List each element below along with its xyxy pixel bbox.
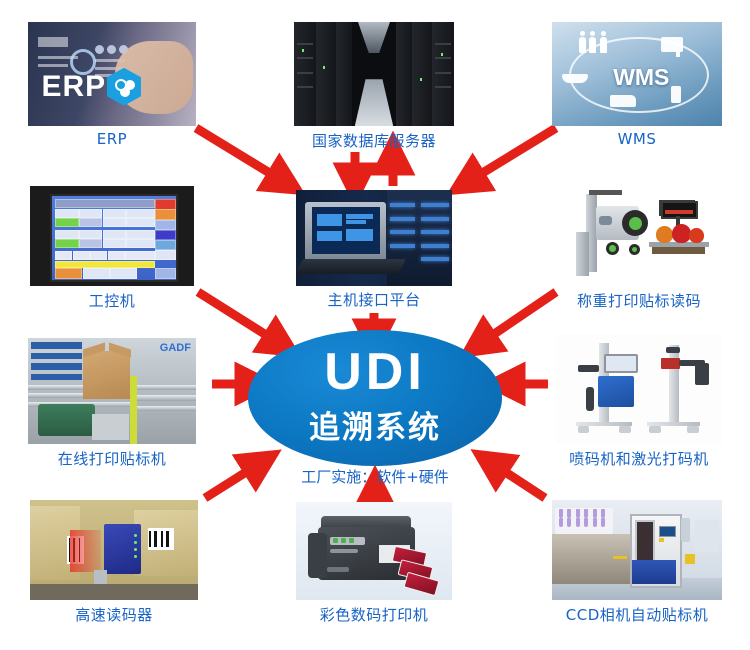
udi-implementation-caption: 工厂实施：软件+硬件 — [248, 466, 502, 487]
node-label-colorprint: 彩色数码打印机 — [256, 604, 492, 625]
node-label-db-server: 国家数据库服务器 — [254, 130, 494, 151]
erp-logo-text: ERP — [41, 70, 106, 104]
ccd-thumbnail — [552, 500, 722, 600]
udi-title: UDI — [248, 342, 502, 402]
node-inkjet[interactable]: 喷码机和激光打码机 — [556, 334, 722, 444]
node-wms[interactable]: WMS WMS — [552, 22, 722, 126]
node-label-ccd: CCD相机自动贴标机 — [512, 604, 750, 625]
udi-system-diagram: ERP ERP 国家数据库服务器 — [0, 0, 750, 650]
node-label-inkjet: 喷码机和激光打码机 — [516, 448, 750, 469]
node-reader[interactable]: 高速读码器 — [30, 500, 198, 600]
node-label-host: 主机接口平台 — [256, 289, 492, 310]
colorprint-thumbnail — [296, 502, 452, 600]
node-inline[interactable]: GADF 在线打印贴标机 — [28, 338, 196, 444]
node-db-server[interactable]: 国家数据库服务器 — [294, 22, 454, 126]
conveyor-brand-text: GADF — [160, 342, 191, 354]
node-label-reader: 高速读码器 — [0, 604, 238, 625]
erp-thumbnail: ERP — [28, 22, 196, 126]
node-host[interactable]: 主机接口平台 — [296, 190, 452, 286]
udi-subtitle: 追溯系统 — [248, 402, 502, 447]
db-server-thumbnail — [294, 22, 454, 126]
reader-thumbnail — [30, 500, 198, 600]
inkjet-thumbnail — [556, 334, 722, 444]
node-label-ipc: 工控机 — [0, 290, 234, 311]
node-label-wms: WMS — [512, 130, 750, 148]
weigh-thumbnail — [556, 186, 722, 286]
node-weigh[interactable]: 称重打印贴标读码 — [556, 186, 722, 286]
wms-thumbnail: WMS — [552, 22, 722, 126]
inline-thumbnail: GADF — [28, 338, 196, 444]
node-label-weigh: 称重打印贴标读码 — [516, 290, 750, 311]
node-label-inline: 在线打印贴标机 — [0, 448, 236, 469]
ipc-thumbnail — [30, 186, 194, 286]
node-erp[interactable]: ERP ERP — [28, 22, 196, 126]
node-colorprint[interactable]: 彩色数码打印机 — [296, 502, 452, 600]
wms-logo-text: WMS — [613, 64, 669, 91]
host-thumbnail — [296, 190, 452, 286]
node-label-erp: ERP — [0, 130, 236, 148]
node-ipc[interactable]: 工控机 — [30, 186, 194, 286]
udi-center-node[interactable]: UDI 追溯系统 — [248, 330, 502, 466]
node-ccd[interactable]: CCD相机自动贴标机 — [552, 500, 722, 600]
